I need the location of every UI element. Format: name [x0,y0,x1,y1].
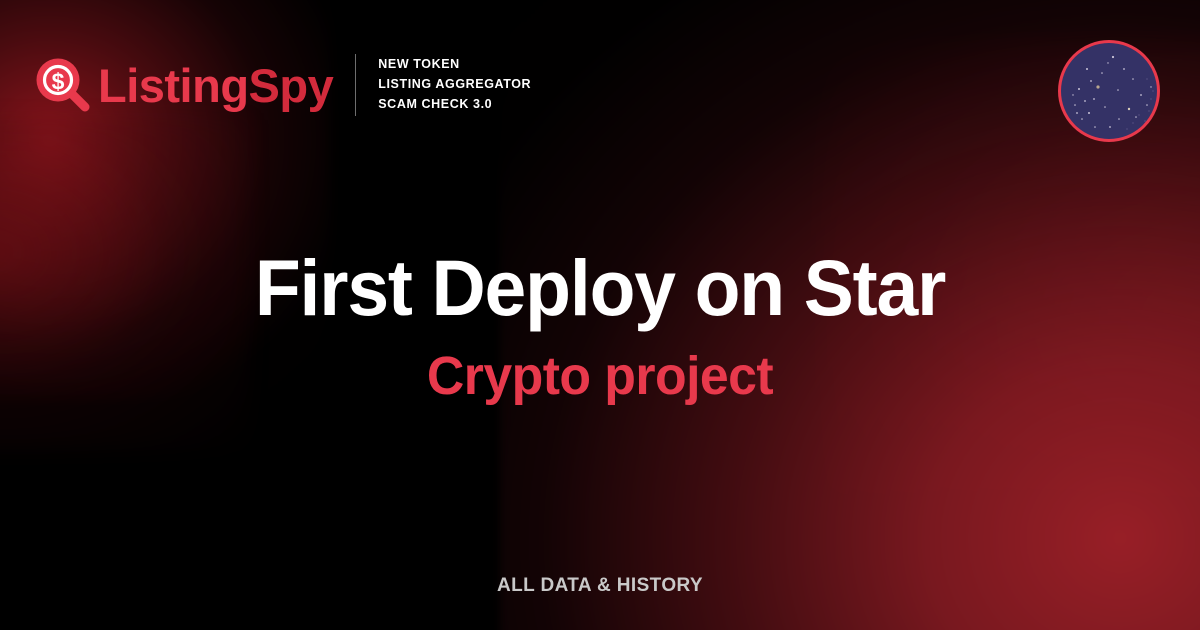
brand-wordmark: ListingSpy [98,62,333,109]
magnifier-dollar-icon: $ [34,56,92,114]
brand-header: $ ListingSpy NEW TOKEN LISTING AGGREGATO… [34,54,531,116]
planet-stars-icon [1061,43,1160,142]
tagline-line-2: LISTING AGGREGATOR [378,75,531,95]
planet-circle-icon [1058,40,1160,142]
hero-copy: First Deploy on Star Crypto project [0,248,1200,403]
footer-caption: ALL DATA & HISTORY [0,575,1200,597]
brand-tagline: NEW TOKEN LISTING AGGREGATOR SCAM CHECK … [378,55,531,114]
brand-wordmark-listing: Listing [98,59,249,112]
brand-wordmark-spy: Spy [249,59,334,112]
tagline-line-3: SCAM CHECK 3.0 [378,95,531,115]
page-subtitle: Crypto project [24,349,1176,403]
svg-text:$: $ [52,69,65,95]
header-divider [355,54,356,116]
promo-banner: $ ListingSpy NEW TOKEN LISTING AGGREGATO… [0,0,1200,630]
tagline-line-1: NEW TOKEN [378,55,531,75]
page-title: First Deploy on Star [30,248,1170,327]
